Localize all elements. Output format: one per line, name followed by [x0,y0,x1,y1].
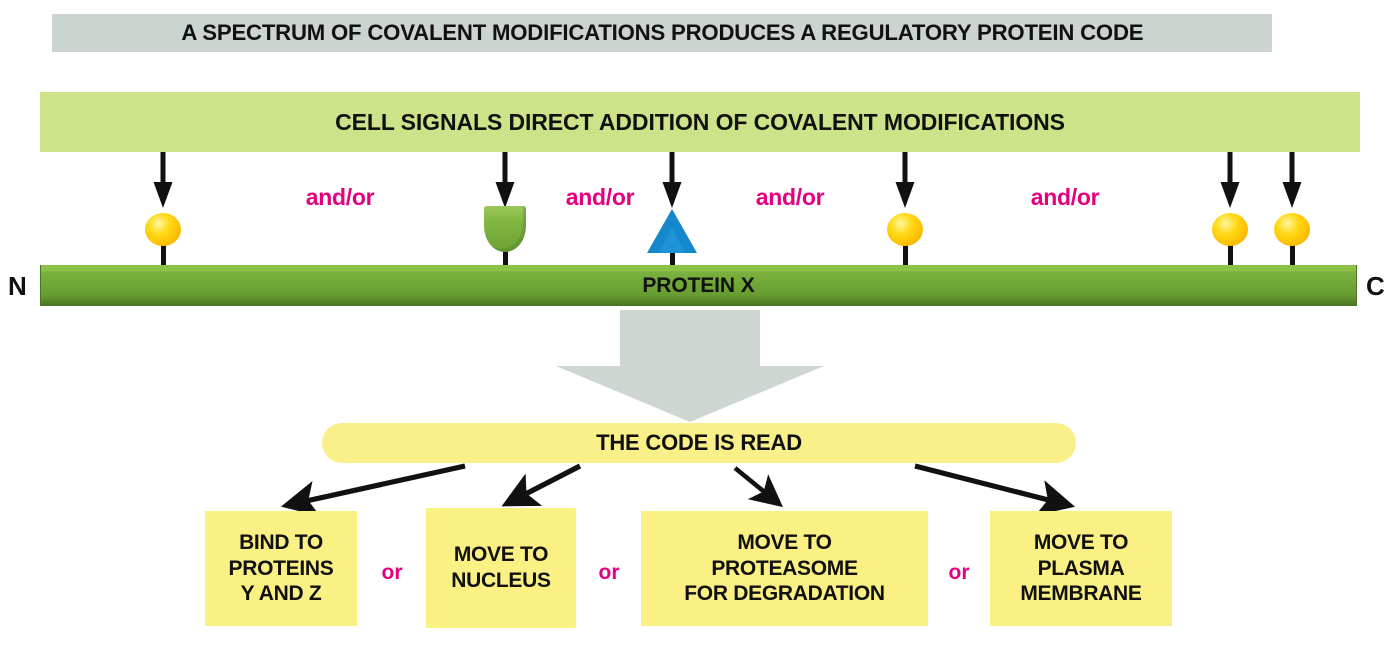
diagram-title-banner: A SPECTRUM OF COVALENT MODIFICATIONS PRO… [52,14,1272,52]
down-block-arrow-icon [556,310,824,422]
modification-mark-phosphate-ball [885,213,925,267]
outcome-box[interactable]: MOVE TONUCLEUS [426,508,576,628]
n-terminus-label: N [8,271,27,302]
outcome-box-line: Y AND Z [241,581,322,607]
or-separator-label: or [599,561,620,585]
arrow-to-outcome-2 [508,466,580,503]
outcome-box-line: PROTEINS [229,556,334,582]
diagram-canvas: A SPECTRUM OF COVALENT MODIFICATIONS PRO… [0,0,1391,650]
arrow-to-outcome-1 [288,466,465,505]
modification-mark-lipid-triangle [646,209,698,267]
green-cup-icon [484,206,526,252]
protein-x-label: PROTEIN X [642,274,754,298]
yellow-circle-icon [145,213,181,246]
code-is-read-pill: THE CODE IS READ [322,423,1076,463]
outcome-box-line: NUCLEUS [451,568,550,594]
arrow-to-outcome-3 [735,468,778,503]
modification-mark-phosphate-ball [1272,213,1312,267]
modification-mark-glycan-cup [482,206,528,267]
modification-mark-phosphate-ball [1210,213,1250,267]
and-or-label: and/or [756,184,824,211]
outcome-box[interactable]: BIND TOPROTEINSY AND Z [205,511,357,626]
yellow-circle-icon [1274,213,1310,246]
code-is-read-label: THE CODE IS READ [596,430,802,456]
outcome-box[interactable]: MOVE TOPLASMAMEMBRANE [990,511,1172,626]
outcome-box-line: MEMBRANE [1020,581,1141,607]
outcome-box-line: MOVE TO [454,542,548,568]
protein-x-bar: PROTEIN X [40,265,1357,306]
signal-down-arrow-icon [892,152,918,208]
cell-signals-banner: CELL SIGNALS DIRECT ADDITION OF COVALENT… [40,92,1360,152]
and-or-label: and/or [1031,184,1099,211]
signal-down-arrow-icon [150,152,176,208]
outcome-box-line: PROTEASOME [711,556,857,582]
cell-signals-banner-label: CELL SIGNALS DIRECT ADDITION OF COVALENT… [335,109,1065,136]
outcome-box-line: MOVE TO [1034,530,1128,556]
modification-mark-phosphate-ball [143,213,183,267]
c-terminus-label: C [1366,271,1385,302]
outcome-box-line: PLASMA [1038,556,1125,582]
yellow-circle-icon [887,213,923,246]
signal-down-arrow-icon [659,152,685,208]
or-separator-label: or [382,561,403,585]
blue-triangle-highlight-icon [659,227,685,253]
page-title: A SPECTRUM OF COVALENT MODIFICATIONS PRO… [181,20,1143,46]
outcome-box-line: BIND TO [239,530,323,556]
yellow-circle-icon [1212,213,1248,246]
outcome-box[interactable]: MOVE TOPROTEASOMEFOR DEGRADATION [641,511,928,626]
arrow-to-outcome-4 [915,466,1068,505]
signal-down-arrow-icon [1217,152,1243,208]
outcome-box-line: MOVE TO [737,530,831,556]
and-or-label: and/or [306,184,374,211]
and-or-label: and/or [566,184,634,211]
signal-down-arrow-icon [1279,152,1305,208]
signal-down-arrow-icon [492,152,518,208]
or-separator-label: or [949,561,970,585]
outcome-box-line: FOR DEGRADATION [684,581,884,607]
